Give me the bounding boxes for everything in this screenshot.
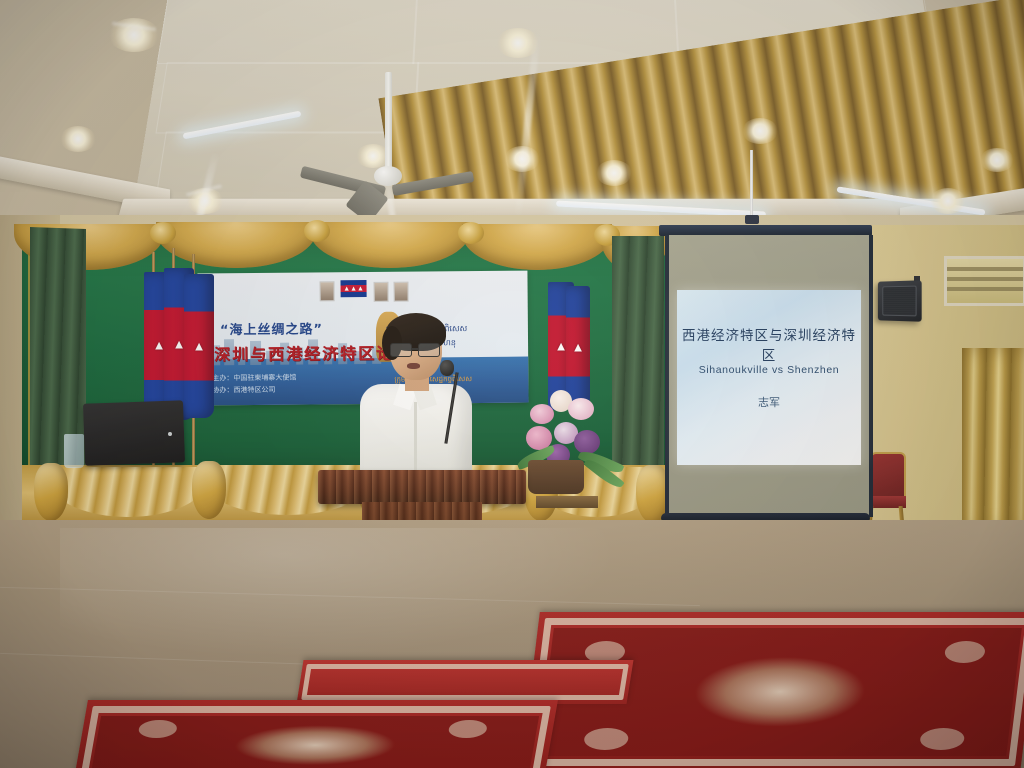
eyeglasses-lens-right <box>418 343 440 357</box>
chair-back <box>870 452 906 502</box>
projection-screen: 西港经济特区与深圳经济特区 Sihanoukville vs Shenzhen … <box>663 225 868 525</box>
angkor-wat-icon: ▲ <box>572 341 585 354</box>
cambodia-flag: ▲ <box>184 274 214 418</box>
flower-basket <box>528 460 584 494</box>
angkor-wat-icon: ▲ <box>193 340 206 353</box>
screen-surface: 西港经济特区与深圳经济特区 Sihanoukville vs Shenzhen … <box>665 235 873 517</box>
flower <box>574 430 600 454</box>
downlight <box>596 160 632 186</box>
speaker-mouth <box>407 363 420 369</box>
banner-subline-2: 协办：西港特区公司 <box>212 385 275 396</box>
angkor-wat-icon: ▲▲▲ <box>343 285 364 292</box>
downlight <box>930 188 966 214</box>
laptop-logo <box>168 432 172 436</box>
downlight <box>742 118 778 144</box>
flower-arrangement <box>520 382 630 507</box>
carpet <box>72 700 558 768</box>
eyeglasses-lens-left <box>390 343 412 357</box>
royal-portrait <box>374 282 389 302</box>
fan-rod <box>385 72 392 172</box>
royal-portrait <box>394 282 409 302</box>
eyeglasses-bridge <box>411 348 418 350</box>
slide-signature-mark: 志军 <box>677 394 861 410</box>
slide-title: 西港经济特区与深圳经济特区 <box>677 324 861 364</box>
stage-swag-top <box>10 222 670 276</box>
podium-top-rail <box>318 470 526 504</box>
flower-stand <box>536 496 598 508</box>
presentation-photo: ✿✿ ✿❄✿ ✿ <box>0 0 1024 768</box>
projected-slide: 西港经济特区与深圳经济特区 Sihanoukville vs Shenzhen … <box>677 290 861 465</box>
microphone-head <box>440 360 454 376</box>
downlight <box>980 148 1014 172</box>
carpet-runner <box>297 660 634 704</box>
banner-quote: “海上丝绸之路” <box>220 318 323 338</box>
louvred-window <box>944 256 1024 306</box>
banner-subline-1: 主办：中国驻柬埔寨大使馆 <box>212 373 296 384</box>
projector-rod <box>750 150 753 218</box>
water-glass <box>64 434 84 468</box>
screen-ceiling-mount <box>745 215 759 224</box>
banner-cambodia-flag: ▲▲▲ <box>340 280 366 297</box>
slide-subtitle: Sihanoukville vs Shenzhen <box>677 364 861 376</box>
royal-portrait <box>320 281 335 301</box>
podium-carving <box>318 470 526 504</box>
flower <box>530 404 554 424</box>
downlight <box>60 126 96 152</box>
wall-speaker <box>878 280 922 321</box>
flower <box>568 398 594 420</box>
door-curtain <box>962 348 1024 534</box>
